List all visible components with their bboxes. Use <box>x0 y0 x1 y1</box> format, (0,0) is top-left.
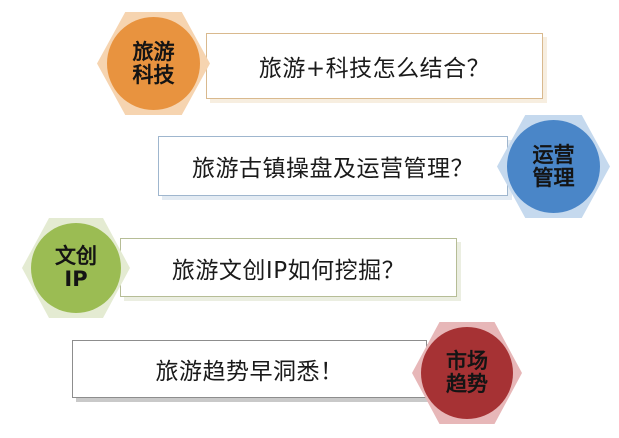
badge-travel-tech[interactable]: 旅游 科技 <box>97 12 210 115</box>
badge-cultural-creative-ip-label: 文创 IP <box>22 218 130 318</box>
badge-operations-management-label: 运营 管理 <box>497 115 610 218</box>
badge-cultural-creative-ip-line-1: 文创 <box>55 245 97 268</box>
badge-market-trend-line-2: 趋势 <box>446 373 488 396</box>
badge-market-trend-label: 市场 趋势 <box>412 322 522 424</box>
question-box-cultural-ip-label: 旅游文创IP如何挖掘？ <box>172 251 405 285</box>
badge-operations-management-line-1: 运营 <box>533 144 575 167</box>
badge-cultural-creative-ip[interactable]: 文创 IP <box>22 218 130 318</box>
question-box-travel-tech-label: 旅游+科技怎么结合？ <box>259 49 490 83</box>
question-box-cultural-ip[interactable]: 旅游文创IP如何挖掘？ <box>120 238 457 297</box>
badge-operations-management[interactable]: 运营 管理 <box>497 115 610 218</box>
badge-market-trend[interactable]: 市场 趋势 <box>412 322 522 424</box>
badge-travel-tech-line-1: 旅游 <box>133 41 175 64</box>
badge-travel-tech-label: 旅游 科技 <box>97 12 210 115</box>
diagram-canvas: 旅游+科技怎么结合？ 旅游 科技 旅游古镇操盘及运营管理？ 运营 管理 旅游文创… <box>0 0 619 438</box>
question-box-market-trend[interactable]: 旅游趋势早洞悉！ <box>72 340 427 398</box>
question-box-ancient-town-label: 旅游古镇操盘及运营管理？ <box>192 149 474 183</box>
question-box-travel-tech[interactable]: 旅游+科技怎么结合？ <box>206 33 543 99</box>
question-box-ancient-town[interactable]: 旅游古镇操盘及运营管理？ <box>158 136 508 196</box>
badge-operations-management-line-2: 管理 <box>533 167 575 190</box>
badge-travel-tech-line-2: 科技 <box>133 64 175 87</box>
question-box-market-trend-label: 旅游趋势早洞悉！ <box>156 352 344 386</box>
badge-market-trend-line-1: 市场 <box>446 350 488 373</box>
badge-cultural-creative-ip-line-2: IP <box>64 268 87 291</box>
